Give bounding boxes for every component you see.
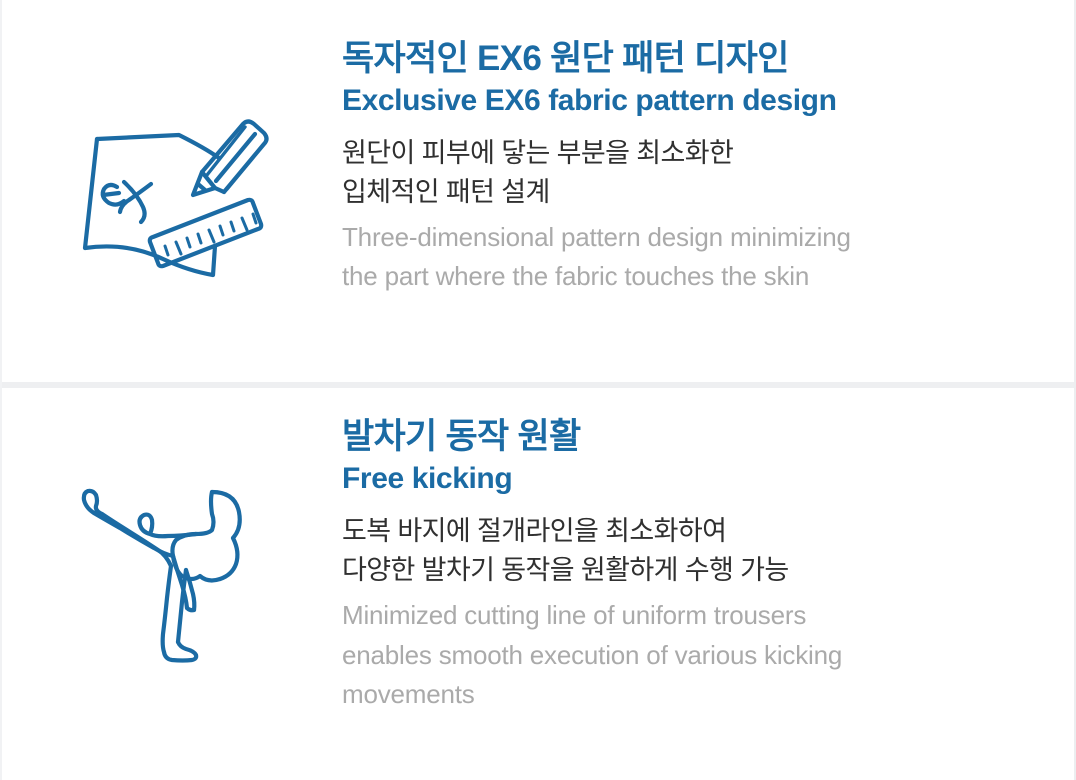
feature-title-ko: 독자적인 EX6 원단 패턴 디자인 [342,38,1034,81]
description-en-line: Minimized cutting line of uniform trouse… [342,596,1034,636]
description-ko-line: 입체적인 패턴 설계 [342,173,1034,212]
feature-text-cell: 발차기 동작 원활 Free kicking 도복 바지에 절개라인을 최소화하… [342,388,1074,715]
feature-text-cell: 독자적인 EX6 원단 패턴 디자인 Exclusive EX6 fabric … [342,0,1074,297]
description-en-line: the part where the fabric touches the sk… [342,257,1034,297]
description-en-line: movements [342,675,1034,715]
feature-icon-cell [2,388,342,680]
taekwondo-kick-figure-icon [72,470,272,680]
feature-block-fabric-pattern: 독자적인 EX6 원단 패턴 디자인 Exclusive EX6 fabric … [2,0,1074,382]
feature-description-en: Three-dimensional pattern design minimiz… [342,218,1034,297]
feature-list: 독자적인 EX6 원단 패턴 디자인 Exclusive EX6 fabric … [2,0,1074,780]
feature-icon-cell [2,0,342,286]
paper-pencil-ruler-design-icon [67,96,277,286]
feature-title-en: Exclusive EX6 fabric pattern design [342,81,1034,120]
description-en-line: Three-dimensional pattern design minimiz… [342,218,1034,258]
feature-description-en: Minimized cutting line of uniform trouse… [342,596,1034,715]
description-ko-line: 도복 바지에 절개라인을 최소화하여 [342,512,1034,551]
feature-title-en: Free kicking [342,459,1034,498]
description-ko-line: 원단이 피부에 닿는 부분을 최소화한 [342,134,1034,173]
feature-description-ko: 원단이 피부에 닿는 부분을 최소화한 입체적인 패턴 설계 [342,134,1034,212]
description-en-line: enables smooth execution of various kick… [342,636,1034,676]
description-ko-line: 다양한 발차기 동작을 원활하게 수행 가능 [342,551,1034,590]
feature-title-ko: 발차기 동작 원활 [342,416,1034,459]
feature-description-ko: 도복 바지에 절개라인을 최소화하여 다양한 발차기 동작을 원활하게 수행 가… [342,512,1034,590]
feature-block-free-kicking: 발차기 동작 원활 Free kicking 도복 바지에 절개라인을 최소화하… [2,388,1074,780]
